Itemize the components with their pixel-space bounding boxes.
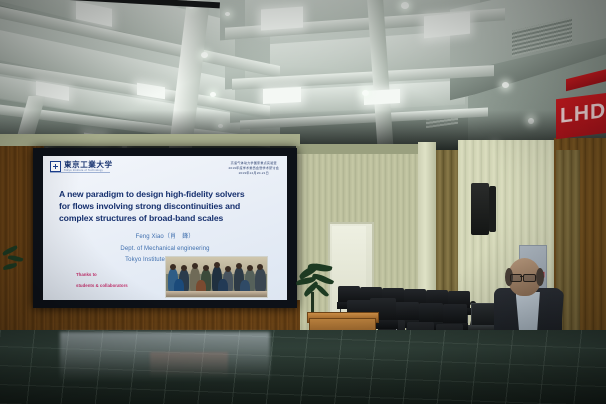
presentation-slide: 東京工業大学 Tokyo Institute of Technology 高速气… [43,156,287,300]
group-photo-person [181,265,187,271]
group-photo-person [225,266,231,272]
titech-mark-icon [50,161,61,172]
ceiling-downlight [502,82,509,88]
presenter-glasses-bridge [520,276,523,277]
slide-title-line-1: A new paradigm to design high-fidelity s… [59,189,274,201]
presenter-glasses-right-lens [523,274,536,282]
group-photo [165,256,268,298]
loudspeaker-2 [489,186,496,232]
group-photo-person [170,264,176,270]
logo-divider [50,172,110,173]
back-wall-upper [296,144,418,154]
potted-palm-left [2,244,24,290]
floor-photo-reflection [150,352,228,378]
left-wall-top [0,134,300,146]
group-photo-person [257,264,263,270]
group-photo-person [203,265,209,271]
slide-title-line-2: for flows involving strong discontinuiti… [59,201,274,213]
slide-title: A new paradigm to design high-fidelity s… [59,189,274,225]
ceiling-downlight [225,12,230,16]
conference-header: 高速气体动力学国家重点实验室 2019年度学术委员会暨学术研讨会 2019年12… [228,161,279,175]
thanks-line-2: students & collaborators [76,280,128,291]
thanks-line-1: Thanks to [76,269,128,280]
ceiling-panel-light [263,87,301,104]
conference-line-3: 2019年12月20-21日 [228,171,279,176]
slide-title-line-3: complex structures of broad-band scales [59,213,274,225]
presenter-hair-right [536,268,544,286]
ceiling [0,0,606,152]
group-photo-person [192,263,198,269]
ceiling-panel-light [261,7,303,31]
author-name: Feng Xiao（肖 鋒） [43,232,287,244]
group-photo-person [255,268,266,292]
ceiling-panel-light [364,89,400,105]
hall-banner-text: LHD20 [560,96,606,129]
group-photo-person [247,265,253,271]
slide-thanks-block: Thanks to students & collaborators [76,269,128,291]
group-photo-person [236,263,242,269]
projection-screen: 東京工業大学 Tokyo Institute of Technology 高速气… [33,148,297,308]
logo-japanese-text: 東京工業大学 [64,161,113,169]
hall-banner: LHD20 [556,93,606,139]
author-department: Dept. of Mechanical engineering [43,244,287,256]
ceiling-downlight [201,52,208,58]
conference-hall-photo: 安全出口 ▶ LHD20 東京工業大学 Tokyo Institute of T… [0,0,606,404]
group-photo-person [214,262,220,268]
group-photo-table [166,291,267,297]
loudspeaker [471,183,489,235]
conference-line-2: 2019年度学术委员会暨学术研讨会 [228,166,279,171]
ceiling-downlight [210,92,216,97]
university-logo: 東京工業大学 Tokyo Institute of Technology [50,161,113,172]
ceiling-downlight [362,90,369,96]
ceiling-downlight [401,2,409,9]
